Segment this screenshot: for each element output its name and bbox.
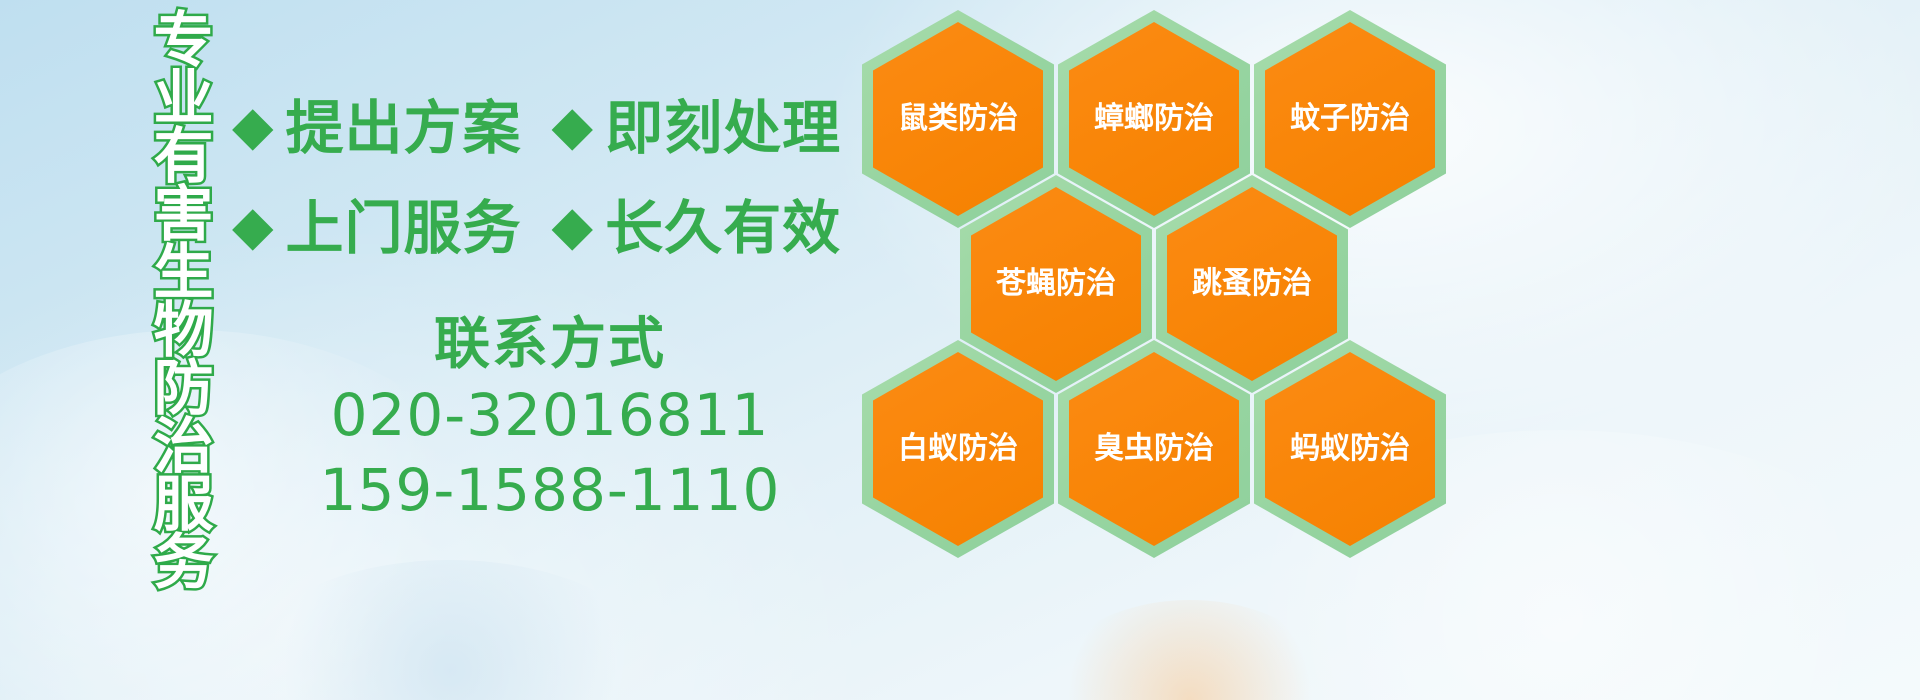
diamond-icon: ◆ [552,99,594,153]
hex-cell-bedbug-control[interactable]: 臭虫防治 [1058,340,1250,558]
diamond-icon: ◆ [232,99,274,153]
feature-item-long-lasting: ◆ 长久有效 [552,199,842,257]
hex-label: 蟑螂防治 [1094,104,1214,134]
feature-item-immediate-handling: ◆ 即刻处理 [552,99,842,157]
hex-label: 鼠类防治 [898,104,1018,134]
feature-label: 即刻处理 [605,99,841,157]
background-glow-orange [1040,600,1340,700]
feature-row: ◆ 提出方案 ◆ 即刻处理 [232,78,872,178]
background-glow-bottom-left [240,560,660,700]
hex-cell-ant-control[interactable]: 蚂蚁防治 [1254,340,1446,558]
feature-item-onsite-service: ◆ 上门服务 [232,199,522,257]
hex-label: 蚂蚁防治 [1290,434,1410,464]
contact-phone-mobile[interactable]: 159-1588-1110 [240,453,860,528]
feature-label: 提出方案 [286,99,522,157]
diamond-icon: ◆ [552,199,594,253]
diamond-icon: ◆ [232,199,274,253]
feature-list: ◆ 提出方案 ◆ 即刻处理 ◆ 上门服务 ◆ 长久有效 [232,78,872,278]
vertical-headline: 专业有害生物防治服务 [104,8,208,568]
contact-heading: 联系方式 [240,312,860,378]
feature-label: 长久有效 [605,199,841,257]
hex-label: 跳蚤防治 [1192,269,1312,299]
contact-block: 联系方式 020-32016811 159-1588-1110 [240,312,860,529]
feature-row: ◆ 上门服务 ◆ 长久有效 [232,178,872,278]
hex-label: 臭虫防治 [1094,434,1214,464]
hex-label: 白蚁防治 [898,434,1018,464]
pest-control-banner: 专业有害生物防治服务 ◆ 提出方案 ◆ 即刻处理 ◆ 上门服务 ◆ 长久有效 联… [0,0,1920,700]
feature-item-propose-plan: ◆ 提出方案 [232,99,522,157]
service-honeycomb: 鼠类防治 蟑螂防治 蚊子防治 苍蝇防治 跳蚤防治 [862,2,1462,562]
hex-label: 蚊子防治 [1290,104,1410,134]
hex-cell-termite-control[interactable]: 白蚁防治 [862,340,1054,558]
hex-label: 苍蝇防治 [996,269,1116,299]
contact-phone-landline[interactable]: 020-32016811 [240,378,860,453]
feature-label: 上门服务 [286,199,522,257]
